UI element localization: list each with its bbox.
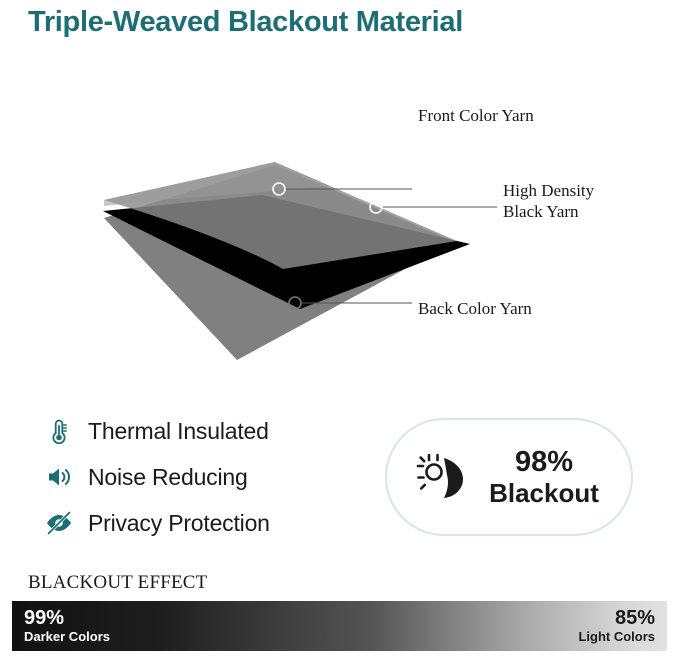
callout-label-high-density: High Density Black Yarn: [503, 180, 594, 222]
right-stat-caption: Light Colors: [578, 629, 655, 645]
feature-label: Noise Reducing: [88, 464, 248, 491]
left-stat-caption: Darker Colors: [24, 629, 110, 645]
blackout-badge: 98% Blackout: [385, 418, 633, 536]
feature-noise-reducing: Noise Reducing: [42, 454, 372, 500]
sun-blocked-icon: [409, 446, 471, 508]
feature-privacy-protection: Privacy Protection: [42, 500, 372, 546]
callout-label-back: Back Color Yarn: [418, 298, 532, 319]
features-list: Thermal Insulated Noise Reducing Privacy…: [42, 408, 372, 546]
blackout-percent: 98%: [515, 446, 573, 478]
blackout-effect-gradient-bar: [12, 601, 667, 651]
blackout-effect-right-stat: 85% Light Colors: [578, 607, 655, 645]
left-stat-percent: 99%: [24, 607, 110, 629]
speaker-sound-icon: [42, 460, 76, 494]
feature-label: Thermal Insulated: [88, 418, 269, 445]
fabric-layers-diagram: Front Color Yarn High Density Black Yarn…: [0, 70, 679, 370]
blackout-effect-left-stat: 99% Darker Colors: [24, 607, 110, 645]
thermometer-icon: [42, 414, 76, 448]
callout-label-front: Front Color Yarn: [418, 105, 534, 126]
page-title: Triple-Weaved Blackout Material: [28, 6, 463, 39]
blackout-text-group: 98% Blackout: [471, 446, 631, 508]
blackout-label: Blackout: [489, 478, 599, 508]
feature-thermal-insulated: Thermal Insulated: [42, 408, 372, 454]
feature-label: Privacy Protection: [88, 510, 270, 537]
eye-slash-icon: [42, 506, 76, 540]
blackout-effect-title: BLACKOUT EFFECT: [28, 572, 207, 594]
right-stat-percent: 85%: [578, 607, 655, 629]
